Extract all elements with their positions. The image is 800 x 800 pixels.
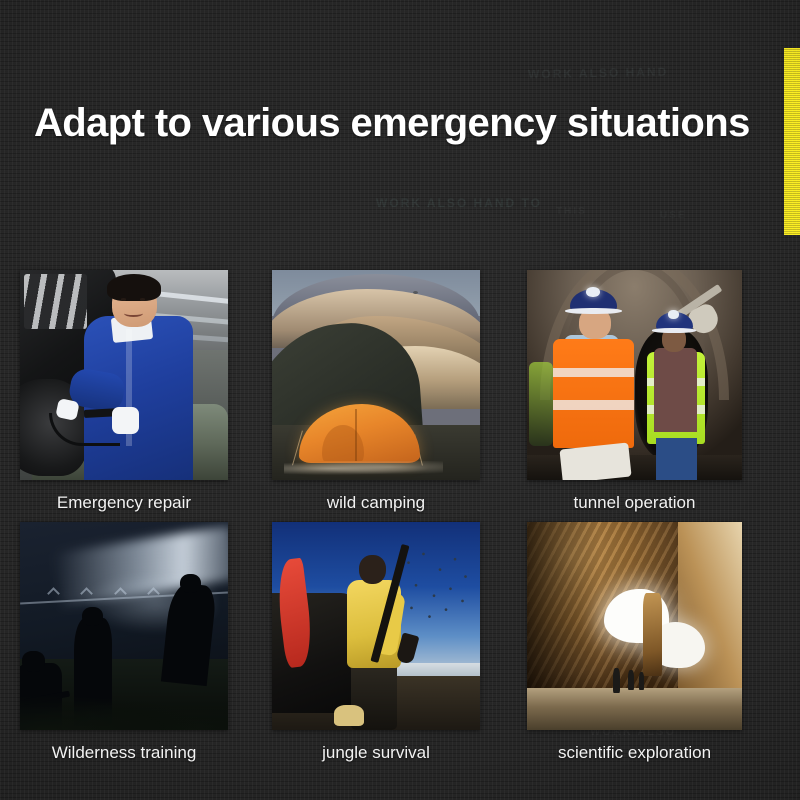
gallery-item-caption: scientific exploration: [527, 742, 742, 764]
explorer-silhouette: [613, 668, 620, 693]
helmet-lamp: [586, 287, 600, 298]
photo-wilderness-training[interactable]: [20, 522, 228, 730]
hunter-head: [359, 555, 386, 584]
foreground-brush: [20, 688, 228, 730]
boot: [334, 705, 363, 726]
cave-floor: [527, 688, 742, 730]
gallery-item-caption: tunnel operation: [527, 492, 742, 514]
worker-shirt: [654, 348, 697, 432]
reflective-stripe: [553, 400, 635, 410]
worker-trousers: [656, 438, 697, 480]
tunnel-floor: [527, 455, 742, 480]
gallery-item-caption: wild camping: [272, 492, 480, 514]
gallery-item[interactable]: tunnel operation: [527, 270, 742, 480]
rock-pillar: [643, 593, 662, 676]
soldier-head: [82, 607, 103, 626]
tent-seam: [355, 409, 357, 462]
reflective-stripe: [553, 368, 635, 378]
mechanic-smile: [124, 310, 143, 317]
hi-vis-vest-orange: [553, 339, 635, 448]
hard-hat: [656, 312, 693, 331]
soldier-head: [22, 651, 45, 672]
gallery-item-caption: Emergency repair: [20, 492, 228, 514]
photo-jungle-survival[interactable]: [272, 522, 480, 730]
gallery-item[interactable]: jungle survival: [272, 522, 480, 730]
mechanic-hair: [107, 274, 161, 301]
gallery-item-caption: Wilderness training: [20, 742, 228, 764]
explorer-silhouette: [639, 672, 645, 691]
gallery-item[interactable]: scientific exploration: [527, 522, 742, 730]
ground-rocks: [284, 461, 442, 476]
bird-flock: [401, 547, 476, 634]
helmet-lamp: [668, 310, 679, 319]
photo-wild-camping[interactable]: [272, 270, 480, 480]
gallery-item[interactable]: Emergency repair: [20, 270, 228, 480]
gallery-item[interactable]: Wilderness training: [20, 522, 228, 730]
helmet-brim: [652, 328, 696, 333]
explorer-silhouette: [628, 670, 634, 691]
rolled-blueprints: [560, 443, 632, 480]
gallery-item[interactable]: wild camping: [272, 270, 480, 480]
car-grille: [24, 274, 86, 329]
background-worker: [529, 362, 553, 446]
gallery-item-caption: jungle survival: [272, 742, 480, 764]
photo-emergency-repair[interactable]: [20, 270, 228, 480]
scenario-gallery: Emergency repair wild camping: [0, 0, 800, 800]
work-glove: [112, 407, 139, 434]
helmet-brim: [565, 308, 622, 314]
photo-tunnel-operation[interactable]: [527, 270, 742, 480]
photo-scientific-exploration[interactable]: [527, 522, 742, 730]
poster-canvas: WORK ALSO HAND WORK ALSO HAND TO THIS US…: [0, 0, 800, 800]
soldier-head: [180, 574, 201, 593]
